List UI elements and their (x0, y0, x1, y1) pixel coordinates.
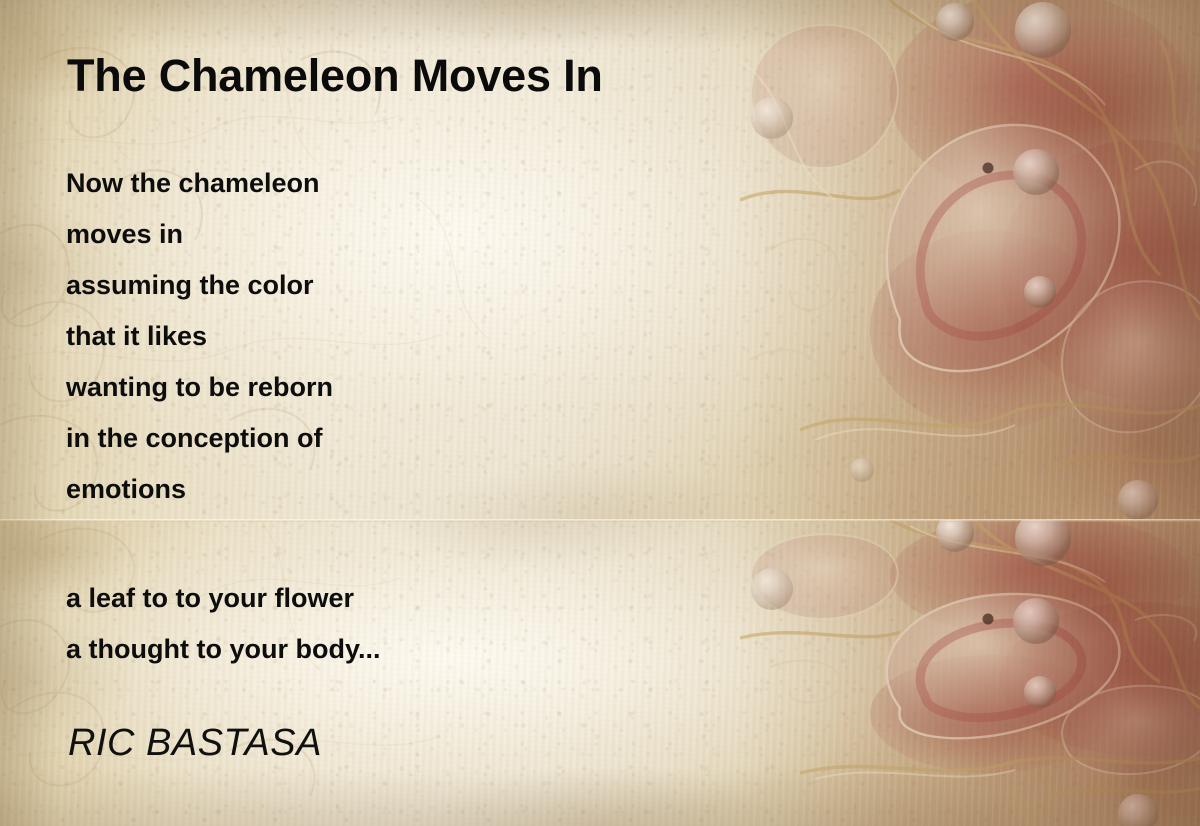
poem-stanza-one: Now the chameleon moves in assuming the … (66, 158, 686, 515)
poem-line: emotions (66, 464, 686, 515)
poem-line: a thought to your body... (66, 624, 686, 675)
poem-content: The Chameleon Moves In Now the chameleon… (0, 0, 1200, 826)
poem-line: in the conception of (66, 413, 686, 464)
poem-line: wanting to be reborn (66, 362, 686, 413)
poem-line: Now the chameleon (66, 158, 686, 209)
poem-author-byline: RIC BASTASA (68, 722, 322, 765)
poem-line: that it likes (66, 311, 686, 362)
poem-stanza-two: a leaf to to your flower a thought to yo… (66, 573, 686, 675)
poem-line: a leaf to to your flower (66, 573, 686, 624)
poem-image-card: The Chameleon Moves In Now the chameleon… (0, 0, 1200, 826)
poem-line: moves in (66, 209, 686, 260)
poem-line: assuming the color (66, 260, 686, 311)
poem-title: The Chameleon Moves In (67, 50, 603, 102)
